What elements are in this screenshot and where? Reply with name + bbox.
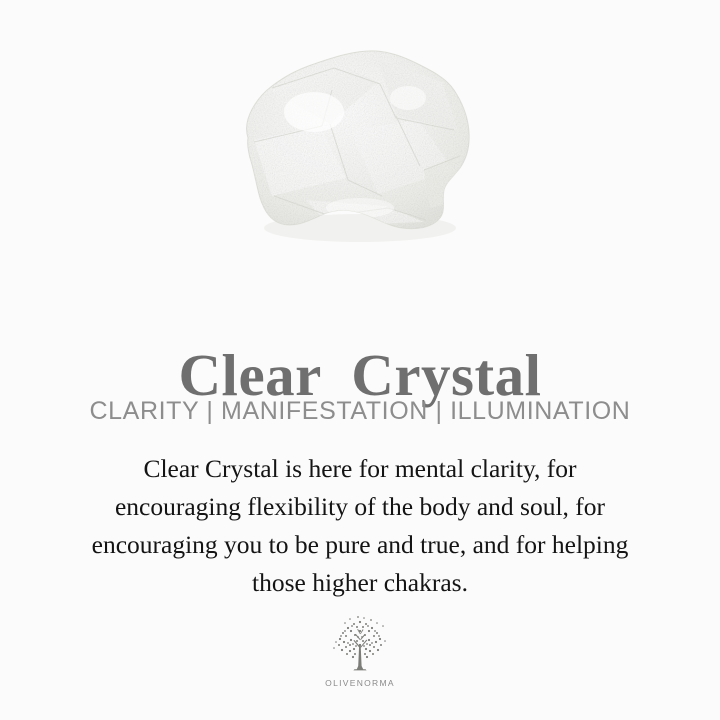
keyword-subtitle: CLARITY | MANIFESTATION | ILLUMINATION (0, 396, 720, 426)
description-line: encouraging you to be pure and true, and… (50, 526, 670, 564)
description-line: those higher chakras. (50, 564, 670, 602)
description-line: encouraging flexibility of the body and … (50, 488, 670, 526)
product-image-container (0, 0, 720, 290)
clear-crystal-info-card: Clear Crystal CLARITY | MANIFESTATION | … (0, 0, 720, 720)
description-line: Clear Crystal is here for mental clarity… (50, 450, 670, 488)
description-paragraph: Clear Crystal is here for mental clarity… (50, 450, 670, 602)
brand-name: OLIVENORMA (325, 678, 395, 688)
clear-crystal-stone-icon (210, 20, 510, 270)
olive-tree-icon (328, 614, 392, 676)
brand-logo: OLIVENORMA (0, 614, 720, 688)
